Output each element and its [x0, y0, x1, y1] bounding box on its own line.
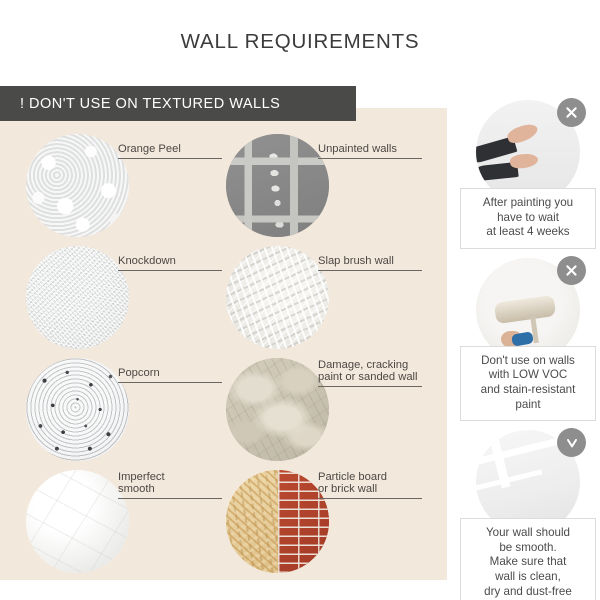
swatch-label-damage-cracking: Damage, cracking paint or sanded wall: [318, 360, 422, 386]
swatch-label-wrap: Damage, cracking paint or sanded wall: [318, 360, 422, 387]
swatch-label-wrap: Popcorn: [118, 368, 222, 383]
texture-swatch-grid: Orange Peel Unpainted walls Knockdown: [0, 108, 447, 580]
swatch-slap-brush-wall: Slap brush wall: [214, 234, 427, 346]
swatch-label-wrap: Knockdown: [118, 256, 222, 271]
swatch-label-wrap: Slap brush wall: [318, 256, 422, 271]
swatch-image-slap-brush-wall: [226, 246, 329, 349]
page-title: WALL REQUIREMENTS: [0, 30, 600, 54]
smooth-wall-photo: [460, 426, 596, 518]
swatch-label-wrap: Imperfect smooth: [118, 472, 222, 499]
swatch-underline: [318, 498, 422, 499]
info-card-text-wait-4-weeks: After painting you have to wait at least…: [460, 188, 596, 249]
swatch-image-unpainted-walls: [226, 134, 329, 237]
swatch-underline: [118, 158, 222, 159]
info-card-wait-4-weeks: After painting you have to wait at least…: [460, 96, 596, 249]
swatch-damage-cracking: Damage, cracking paint or sanded wall: [214, 346, 427, 458]
paint-roller-photo: [460, 254, 596, 346]
info-card-text-low-voc: Don't use on walls with LOW VOC and stai…: [460, 346, 596, 421]
swatch-label-slap-brush-wall: Slap brush wall: [318, 256, 422, 270]
info-card-text-smooth-wall: Your wall should be smooth. Make sure th…: [460, 518, 596, 600]
swatch-image-popcorn: [26, 358, 129, 461]
swatch-particle-board-brick: Particle board or brick wall: [214, 458, 427, 570]
info-cards-column: After painting you have to wait at least…: [460, 96, 596, 600]
swatch-label-imperfect-smooth: Imperfect smooth: [118, 472, 222, 498]
swatch-imperfect-smooth: Imperfect smooth: [14, 458, 227, 570]
x-badge-icon: [557, 98, 586, 127]
swatch-label-popcorn: Popcorn: [118, 368, 222, 382]
hands-on-wall-photo: [460, 96, 596, 188]
swatch-underline: [118, 498, 222, 499]
swatch-knockdown: Knockdown: [14, 234, 227, 346]
swatch-underline: [118, 270, 222, 271]
swatch-label-unpainted-walls: Unpainted walls: [318, 144, 422, 158]
swatch-underline: [118, 382, 222, 383]
swatch-image-knockdown: [26, 246, 129, 349]
swatch-label-orange-peel: Orange Peel: [118, 144, 222, 158]
swatch-unpainted-walls: Unpainted walls: [214, 122, 427, 234]
swatch-image-orange-peel: [26, 134, 129, 237]
swatch-orange-peel: Orange Peel: [14, 122, 227, 234]
swatch-label-wrap: Particle board or brick wall: [318, 472, 422, 499]
swatch-image-damage-cracking: [226, 358, 329, 461]
swatch-label-knockdown: Knockdown: [118, 256, 222, 270]
swatch-popcorn: Popcorn: [14, 346, 227, 458]
swatch-underline: [318, 270, 422, 271]
x-badge-icon: [557, 256, 586, 285]
swatch-underline: [318, 158, 422, 159]
swatch-image-imperfect-smooth: [26, 470, 129, 573]
swatch-image-particle-board-brick: [226, 470, 329, 573]
swatch-label-wrap: Orange Peel: [118, 144, 222, 159]
swatch-label-particle-board-brick: Particle board or brick wall: [318, 472, 422, 498]
info-card-smooth-wall: Your wall should be smooth. Make sure th…: [460, 426, 596, 600]
swatch-underline: [318, 386, 422, 387]
info-card-low-voc: Don't use on walls with LOW VOC and stai…: [460, 254, 596, 421]
infographic-page: WALL REQUIREMENTS ! DON'T USE ON TEXTURE…: [0, 0, 600, 600]
check-badge-icon: [557, 428, 586, 457]
swatch-label-wrap: Unpainted walls: [318, 144, 422, 159]
